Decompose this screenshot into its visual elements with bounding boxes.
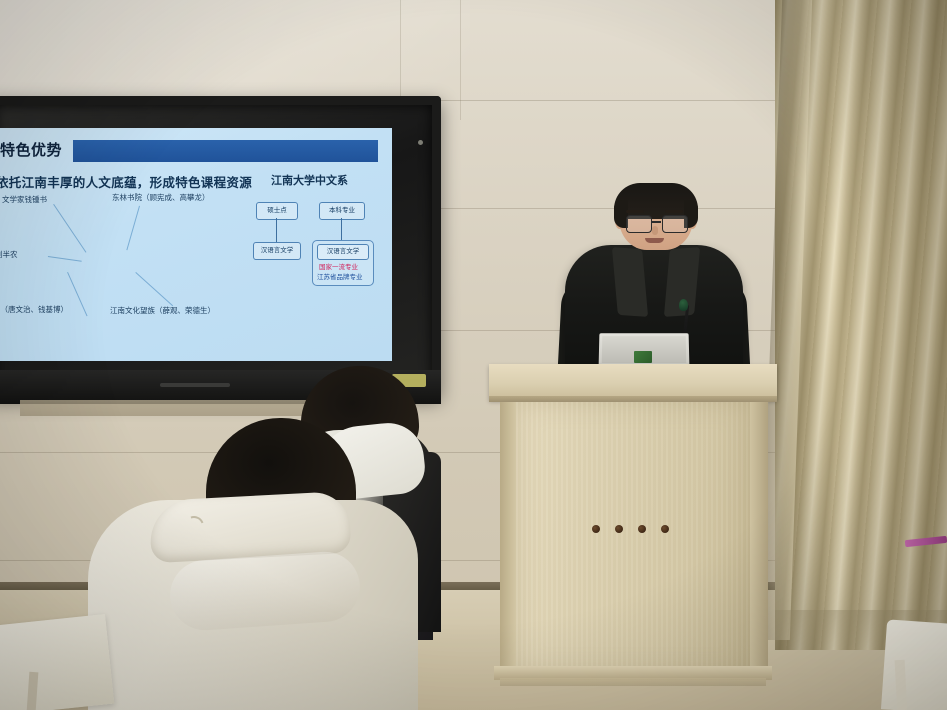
whiteboard-speaker-grille	[160, 383, 230, 387]
tree-node-master-major: 汉语言文学	[253, 242, 301, 260]
mindmap-node: 江南文化望族（薛观、荣德生）	[110, 305, 215, 316]
whiteboard-led-indicator	[418, 140, 423, 145]
eyeglasses-lens-right	[662, 215, 688, 233]
badge-national-first-class: 国家一流专业	[319, 261, 358, 271]
tree-node-undergrad-major: 汉语言文学	[317, 244, 369, 260]
desk-front-left	[0, 614, 114, 710]
speaker-collar-left	[612, 247, 648, 317]
tree-connector	[341, 218, 342, 240]
lecture-hall-photo: 特色优势 依托江南丰厚的人文底蕴，形成特色课程资源 江南大学中文系 文学家钱锺书…	[0, 0, 947, 710]
badge-province-brand: 江苏省品牌专业	[317, 271, 363, 281]
mindmap-connector	[135, 272, 173, 306]
mindmap-node: 东林书院（顾宪成、高攀龙）	[112, 192, 210, 203]
speaker-mouth	[645, 238, 664, 243]
speaker-nose	[652, 226, 658, 235]
slide-right-title: 江南大学中文系	[271, 172, 348, 188]
podium-vent-hole	[592, 525, 600, 533]
eyeglasses-lens-left	[626, 215, 652, 233]
laptop-sticker	[634, 351, 652, 363]
podium-side-left	[500, 402, 516, 668]
speaker-eyebrow-right	[665, 210, 683, 213]
slide-title: 特色优势	[0, 140, 72, 162]
speaker-eyebrow-left	[626, 210, 644, 213]
mindmap-node: 锡国专（唐文治、钱基博）	[0, 304, 68, 315]
mindmap-connector	[67, 272, 87, 316]
podium-base-plinth	[500, 678, 766, 686]
tree-connector	[276, 218, 277, 242]
podium-vent-hole	[615, 525, 623, 533]
mindmap-connector	[48, 256, 82, 262]
podium-side-right	[750, 402, 768, 668]
podium-top-surface	[489, 364, 777, 400]
wall-seam	[460, 0, 461, 120]
audience-front-jacket-fold	[168, 549, 362, 632]
slide-header-bar	[73, 140, 378, 162]
chair-bottom-right	[881, 619, 947, 710]
podium-vent-hole	[638, 525, 646, 533]
podium-front-panel	[516, 402, 750, 674]
presentation-slide: 特色优势 依托江南丰厚的人文底蕴，形成特色课程资源 江南大学中文系 文学家钱锺书…	[0, 128, 392, 361]
slide-lead-text: 依托江南丰厚的人文底蕴，形成特色课程资源	[0, 172, 252, 191]
eyeglasses-bridge	[651, 221, 661, 223]
tree-node-undergrad-program: 本科专业	[319, 202, 365, 220]
tree-node-master-program: 硕士点	[256, 202, 298, 220]
mindmap-connector	[53, 204, 86, 253]
mindmap-node: 学家刘半农	[0, 249, 18, 260]
microphone-head-icon	[679, 299, 688, 311]
podium-vent-hole	[661, 525, 669, 533]
mindmap-node: 文学家钱锺书	[2, 194, 47, 205]
mindmap-connector	[126, 206, 140, 250]
